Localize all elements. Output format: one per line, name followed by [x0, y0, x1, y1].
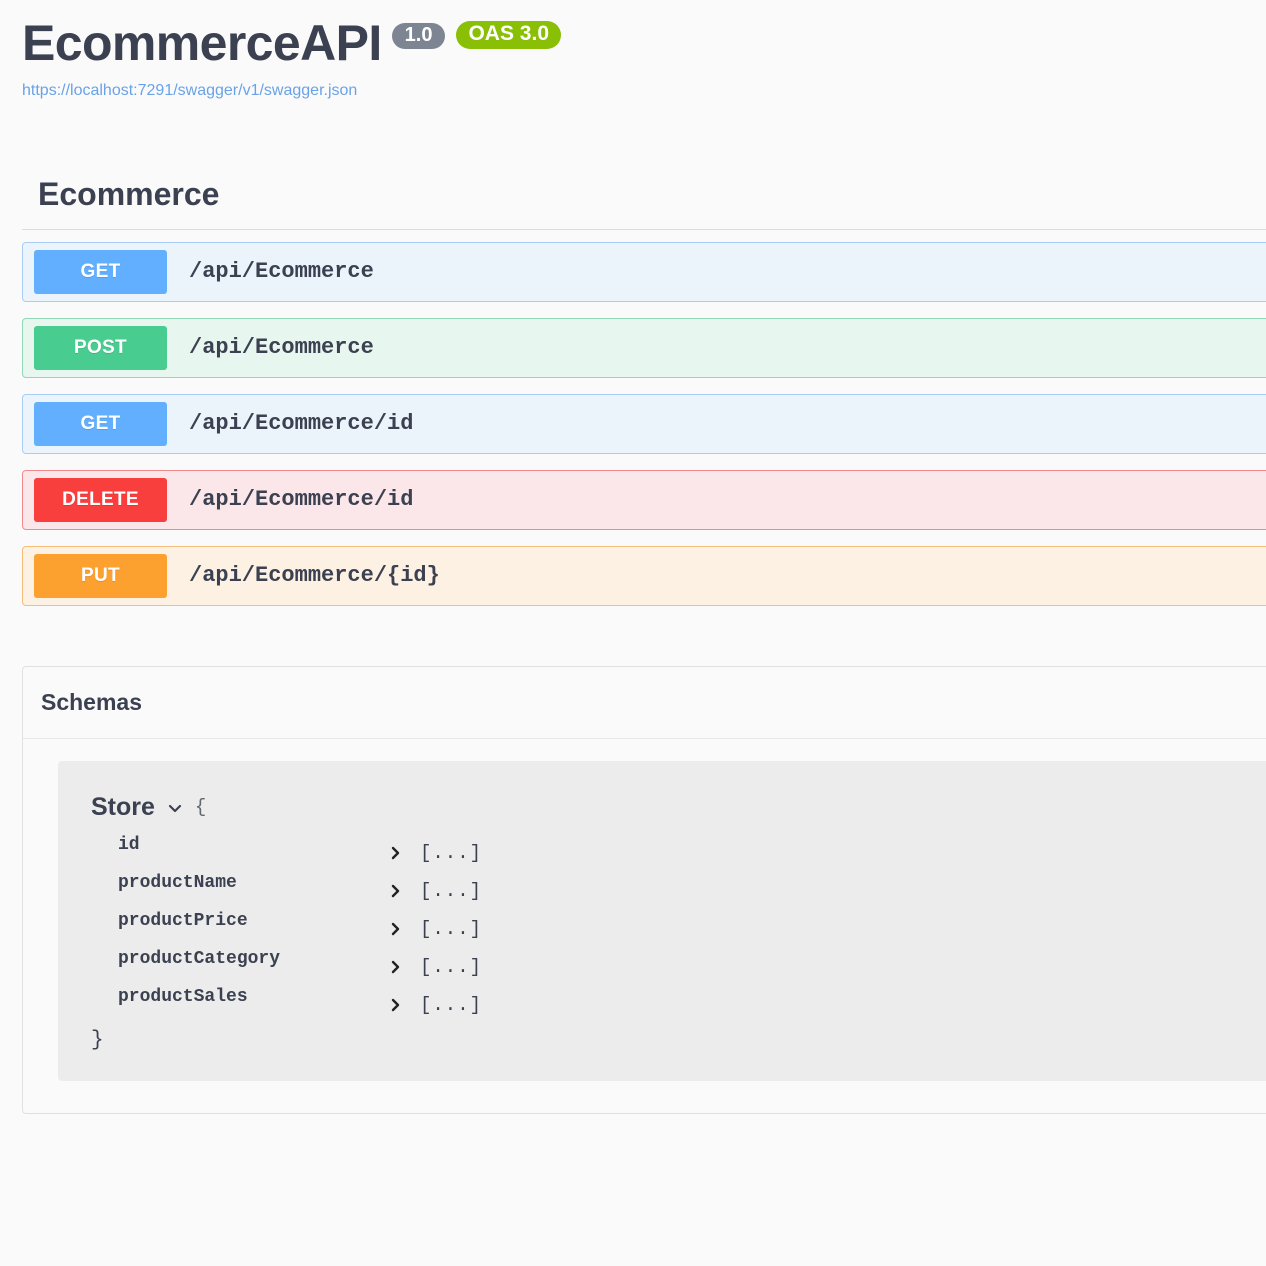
property-collapsed-value: [...] [420, 842, 482, 864]
operation-path: /api/Ecommerce/{id} [189, 563, 440, 588]
schemas-title: Schemas [41, 689, 1266, 717]
property-name: productName [118, 873, 388, 893]
property-value[interactable]: [...] [388, 956, 482, 978]
model-title-row[interactable]: Store { [58, 795, 1266, 820]
operation-path: /api/Ecommerce/id [189, 487, 413, 512]
schemas-body: Store { id [23, 739, 1266, 1113]
chevron-right-icon[interactable] [388, 959, 404, 975]
operation-path: /api/Ecommerce [189, 335, 374, 360]
property-collapsed-value: [...] [420, 918, 482, 940]
http-method-badge: PUT [34, 554, 167, 598]
property-collapsed-value: [...] [420, 880, 482, 902]
model-property-row: productSales [...] [58, 978, 1266, 1016]
chevron-down-icon[interactable] [166, 799, 184, 817]
operation-row[interactable]: GET /api/Ecommerce/id [22, 394, 1266, 454]
model-property-row: productName [...] [58, 864, 1266, 902]
tag-section-ecommerce: Ecommerce [0, 176, 1266, 230]
model-open-brace: { [195, 798, 206, 817]
property-value[interactable]: [...] [388, 880, 482, 902]
property-name: productSales [118, 987, 388, 1007]
chevron-right-icon[interactable] [388, 921, 404, 937]
property-collapsed-value: [...] [420, 956, 482, 978]
operation-row[interactable]: GET /api/Ecommerce [22, 242, 1266, 302]
api-version-badge: 1.0 [392, 23, 446, 49]
property-collapsed-value: [...] [420, 994, 482, 1016]
property-value[interactable]: [...] [388, 994, 482, 1016]
http-method-badge: DELETE [34, 478, 167, 522]
api-info-block: EcommerceAPI 1.0 OAS 3.0 https://localho… [0, 0, 1266, 100]
model-property-list: id [...] productName [58, 826, 1266, 1016]
operation-row[interactable]: PUT /api/Ecommerce/{id} [22, 546, 1266, 606]
tag-title[interactable]: Ecommerce [22, 176, 1266, 229]
oas-version-badge: OAS 3.0 [456, 21, 561, 48]
property-value[interactable]: [...] [388, 842, 482, 864]
property-value[interactable]: [...] [388, 918, 482, 940]
chevron-right-icon[interactable] [388, 845, 404, 861]
schemas-section: Schemas Store { [0, 666, 1266, 1115]
operations-list: GET /api/Ecommerce POST /api/Ecommerce G… [0, 242, 1266, 606]
model-property-row: productCategory [...] [58, 940, 1266, 978]
model-box-store: Store { id [58, 761, 1266, 1081]
http-method-badge: GET [34, 250, 167, 294]
operation-row[interactable]: DELETE /api/Ecommerce/id [22, 470, 1266, 530]
model-name: Store [91, 795, 155, 820]
operation-path: /api/Ecommerce/id [189, 411, 413, 436]
tag-divider [22, 229, 1266, 230]
model-close-brace: } [58, 1030, 1266, 1051]
property-name: id [118, 835, 388, 855]
property-name: productPrice [118, 911, 388, 931]
model-property-row: productPrice [...] [58, 902, 1266, 940]
http-method-badge: POST [34, 326, 167, 370]
swagger-ui-root: EcommerceAPI 1.0 OAS 3.0 https://localho… [0, 0, 1266, 1266]
http-method-badge: GET [34, 402, 167, 446]
model-property-row: id [...] [58, 826, 1266, 864]
swagger-spec-link[interactable]: https://localhost:7291/swagger/v1/swagge… [22, 82, 1266, 100]
page-title: EcommerceAPI [22, 18, 382, 68]
property-name: productCategory [118, 949, 388, 969]
operation-path: /api/Ecommerce [189, 259, 374, 284]
schemas-header[interactable]: Schemas [23, 667, 1266, 740]
chevron-right-icon[interactable] [388, 997, 404, 1013]
operation-row[interactable]: POST /api/Ecommerce [22, 318, 1266, 378]
schemas-panel: Schemas Store { [22, 666, 1266, 1115]
api-title-row: EcommerceAPI 1.0 OAS 3.0 [22, 18, 1266, 68]
chevron-right-icon[interactable] [388, 883, 404, 899]
